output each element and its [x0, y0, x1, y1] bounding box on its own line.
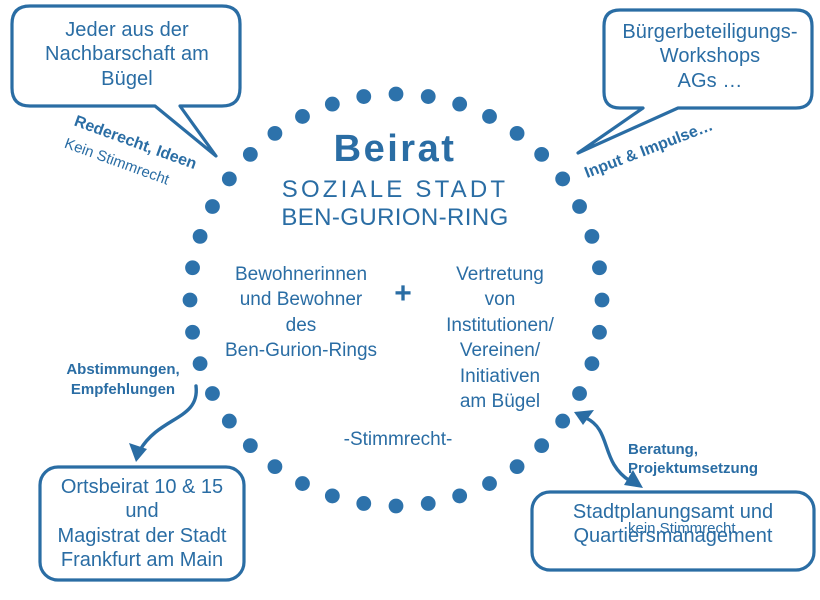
- bubble-neighbourhood-label: Jeder aus der Nachbarschaft am Bügel: [18, 18, 236, 91]
- diagram-canvas: Jeder aus der Nachbarschaft am Bügel Bür…: [0, 0, 820, 600]
- ring-dot: [452, 97, 467, 112]
- bubble-workshops-label: Bürgerbeteiligungs- Workshops AGs …: [610, 20, 810, 93]
- ring-dot: [592, 325, 607, 340]
- ring-dot: [205, 199, 220, 214]
- ring-dot: [356, 496, 371, 511]
- ring-dot: [185, 325, 200, 340]
- ring-dot: [325, 97, 340, 112]
- caption-beratung-group: Beratung, Projektumsetzung kein Stimmrec…: [628, 400, 788, 578]
- ring-dot: [585, 356, 600, 371]
- ring-dot: [295, 109, 310, 124]
- ring-dot: [295, 476, 310, 491]
- ring-dot: [482, 476, 497, 491]
- ring-dot: [592, 260, 607, 275]
- ring-dot: [389, 499, 404, 514]
- ring-dot: [268, 459, 283, 474]
- caption-input-impulse: Input & Impulse…: [582, 116, 716, 183]
- ring-dot: [222, 414, 237, 429]
- members-residents-label: Bewohnerinnen und Bewohner des Ben-Gurio…: [212, 262, 390, 364]
- ring-dot: [205, 386, 220, 401]
- ring-dot: [510, 459, 525, 474]
- plus-icon: +: [388, 276, 418, 313]
- ring-dot: [585, 229, 600, 244]
- ring-dot: [482, 109, 497, 124]
- ring-dot: [555, 172, 570, 187]
- ring-dot: [325, 489, 340, 504]
- caption-beratung-bold: Beratung, Projektumsetzung: [628, 440, 788, 480]
- ring-dot: [183, 293, 198, 308]
- caption-abstimmungen-empfehlungen: Abstimmungen, Empfehlungen: [48, 360, 198, 399]
- ring-dot: [595, 293, 610, 308]
- page-title: Beirat: [240, 126, 550, 172]
- ring-dot: [185, 260, 200, 275]
- ring-dot: [356, 89, 371, 104]
- voting-rights-label: -Stimmrecht-: [310, 428, 486, 451]
- caption-kein-stimmrecht-bottom: kein Stimmrecht: [628, 519, 788, 539]
- subtitle-ben-gurion-ring: BEN-GURION-RING: [240, 203, 550, 232]
- ring-dot: [389, 87, 404, 102]
- ring-dot: [572, 199, 587, 214]
- subtitle-soziale-stadt: SOZIALE STADT: [240, 175, 550, 204]
- ring-dot: [555, 414, 570, 429]
- ring-dot: [452, 489, 467, 504]
- ring-dot: [243, 438, 258, 453]
- ring-dot: [421, 89, 436, 104]
- box-ortsbeirat-label: Ortsbeirat 10 & 15 und Magistrat der Sta…: [44, 475, 240, 573]
- ring-dot: [193, 229, 208, 244]
- ring-dot: [421, 496, 436, 511]
- ring-dot: [222, 172, 237, 187]
- members-institutions-label: Vertretung von Institutionen/ Vereinen/ …: [420, 262, 580, 415]
- ring-dot: [534, 438, 549, 453]
